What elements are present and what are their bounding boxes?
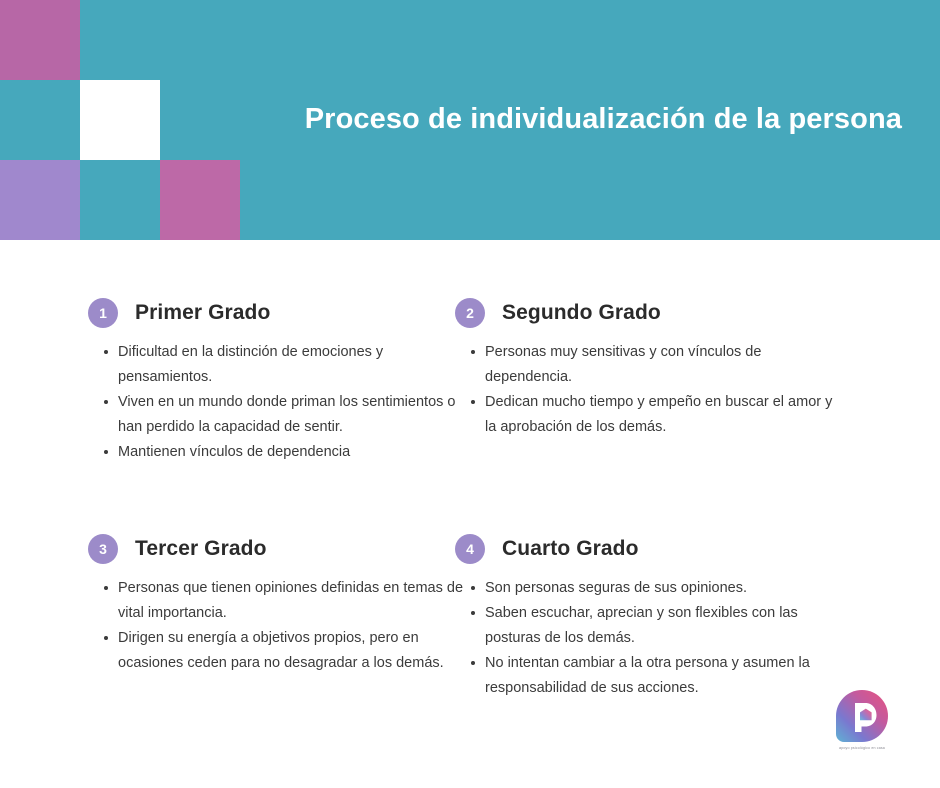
decorative-block-white-center (80, 80, 160, 160)
page-title: Proceso de individualización de la perso… (290, 102, 902, 137)
list-item: Dificultad en la distinción de emociones… (118, 340, 468, 390)
bullet-list: Personas que tienen opiniones definidas … (88, 576, 468, 676)
section-tercer-grado: 3 Tercer Grado Personas que tienen opini… (88, 534, 468, 676)
speech-bubble-p-logo-icon (834, 688, 890, 744)
section-header: 3 Tercer Grado (88, 534, 468, 564)
step-number-badge: 3 (88, 534, 118, 564)
section-title: Tercer Grado (135, 537, 267, 561)
bullet-list: Personas muy sensitivas y con vínculos d… (455, 340, 835, 440)
content-area: 1 Primer Grado Dificultad en la distinci… (0, 240, 940, 788)
section-cuarto-grado: 4 Cuarto Grado Son personas seguras de s… (455, 534, 835, 701)
section-header: 2 Segundo Grado (455, 298, 835, 328)
logo-tagline: apoyo psicológico en casa (824, 746, 900, 750)
decorative-block-magenta-top-left (0, 0, 80, 80)
section-title: Cuarto Grado (502, 537, 639, 561)
step-number-badge: 2 (455, 298, 485, 328)
section-segundo-grado: 2 Segundo Grado Personas muy sensitivas … (455, 298, 835, 440)
section-header: 1 Primer Grado (88, 298, 468, 328)
header-banner: Proceso de individualización de la perso… (0, 0, 940, 240)
list-item: Dirigen su energía a objetivos propios, … (118, 626, 468, 676)
infographic-page: Proceso de individualización de la perso… (0, 0, 940, 788)
decorative-block-magenta-bottom-right (160, 160, 240, 240)
list-item: No intentan cambiar a la otra persona y … (485, 651, 835, 701)
decorative-block-lilac-bottom-left (0, 160, 80, 240)
step-number-badge: 1 (88, 298, 118, 328)
list-item: Personas que tienen opiniones definidas … (118, 576, 468, 626)
section-title: Primer Grado (135, 301, 270, 325)
step-number-badge: 4 (455, 534, 485, 564)
list-item: Mantienen vínculos de dependencia (118, 440, 468, 465)
section-primer-grado: 1 Primer Grado Dificultad en la distinci… (88, 298, 468, 465)
list-item: Son personas seguras de sus opiniones. (485, 576, 835, 601)
bullet-list: Son personas seguras de sus opiniones. S… (455, 576, 835, 701)
list-item: Viven en un mundo donde priman los senti… (118, 390, 468, 440)
bullet-list: Dificultad en la distinción de emociones… (88, 340, 468, 465)
brand-logo: apoyo psicológico en casa (824, 688, 900, 756)
list-item: Saben escuchar, aprecian y son flexibles… (485, 601, 835, 651)
section-header: 4 Cuarto Grado (455, 534, 835, 564)
list-item: Dedican mucho tiempo y empeño en buscar … (485, 390, 835, 440)
section-title: Segundo Grado (502, 301, 661, 325)
list-item: Personas muy sensitivas y con vínculos d… (485, 340, 835, 390)
